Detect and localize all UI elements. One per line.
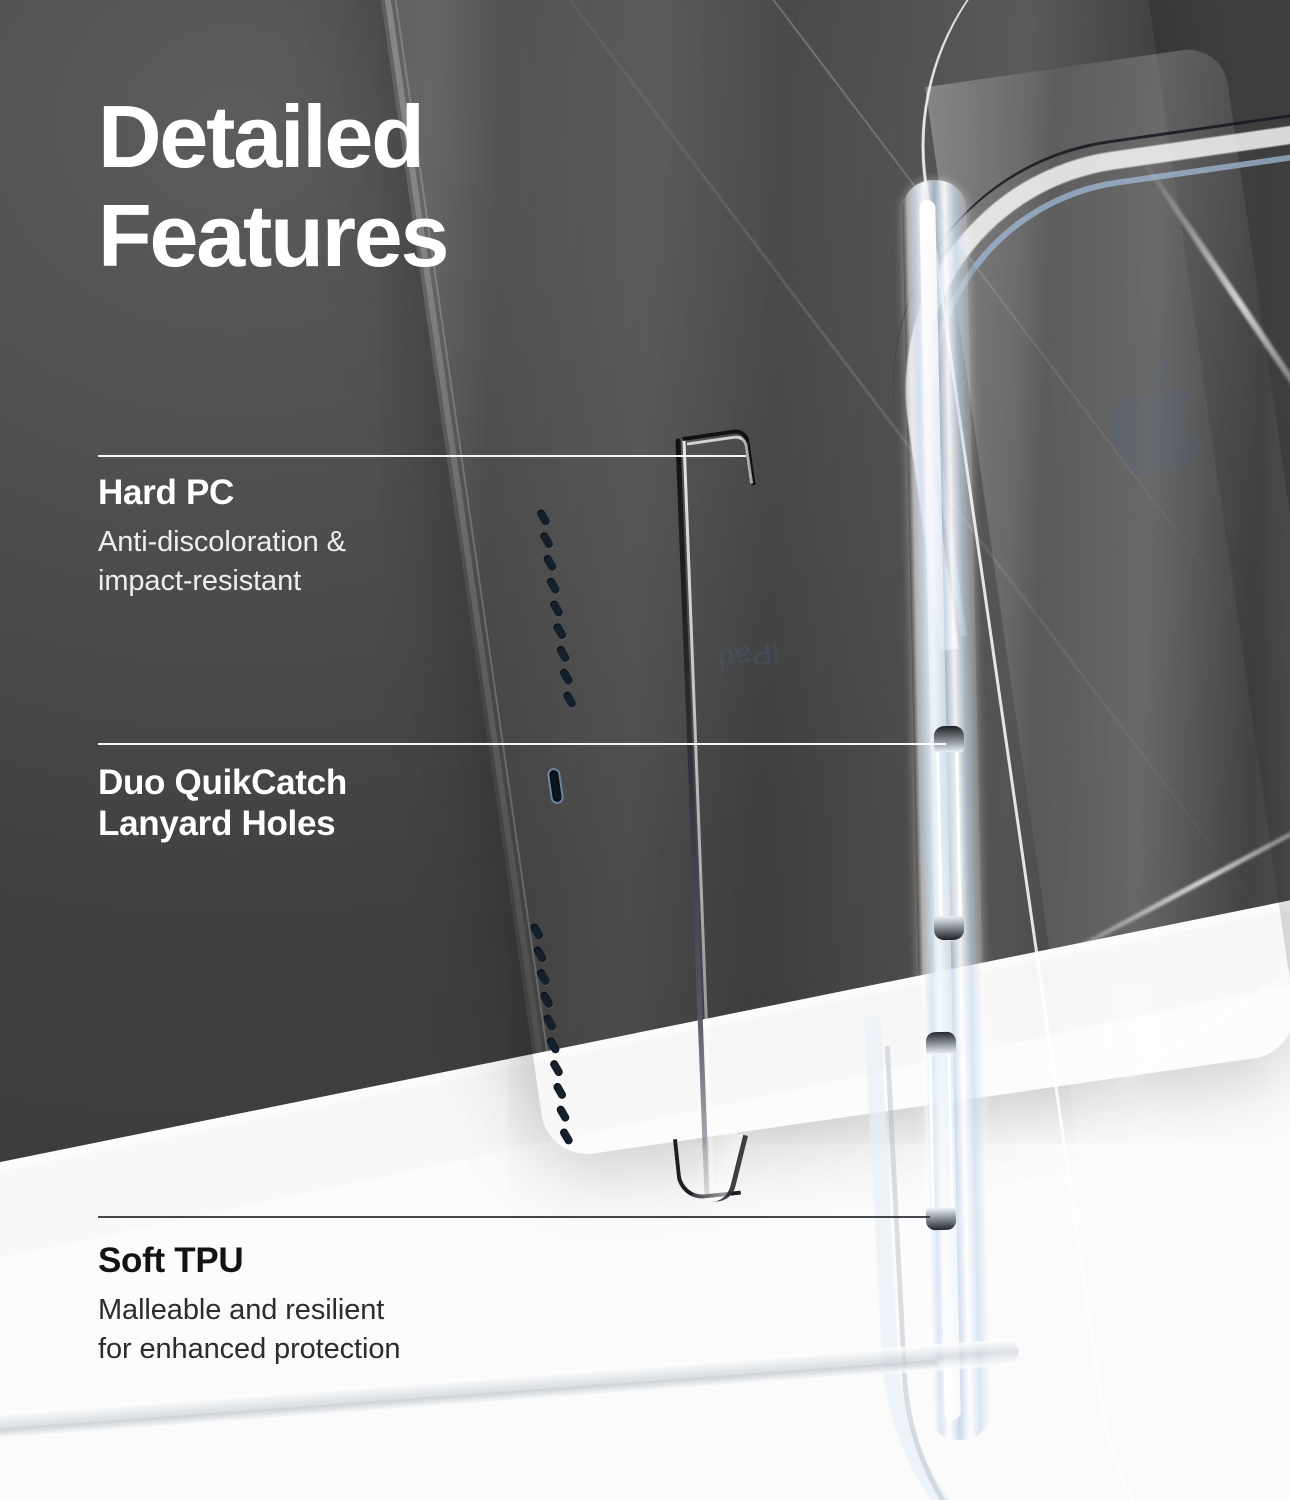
callout-title: Duo QuikCatch Lanyard Holes bbox=[98, 762, 347, 845]
apple-logo bbox=[1099, 345, 1229, 492]
feature-callout-graphic: iPad bbox=[0, 0, 1290, 1500]
leader-line-lanyard-holes bbox=[98, 743, 946, 745]
page-title: Detailed Features bbox=[98, 88, 447, 285]
leader-line-soft-tpu bbox=[98, 1216, 930, 1218]
callout-description: Malleable and resilient for enhanced pro… bbox=[98, 1291, 400, 1369]
callout-description: Anti-discoloration & impact-resistant bbox=[98, 523, 346, 601]
callout-hard-pc: Hard PC Anti-discoloration & impact-resi… bbox=[98, 472, 346, 601]
callout-title: Hard PC bbox=[98, 472, 346, 513]
callout-lanyard-holes: Duo QuikCatch Lanyard Holes bbox=[98, 762, 347, 855]
callout-title: Soft TPU bbox=[98, 1240, 400, 1281]
leader-line-hard-pc bbox=[98, 455, 746, 457]
callout-soft-tpu: Soft TPU Malleable and resilient for enh… bbox=[98, 1240, 400, 1369]
